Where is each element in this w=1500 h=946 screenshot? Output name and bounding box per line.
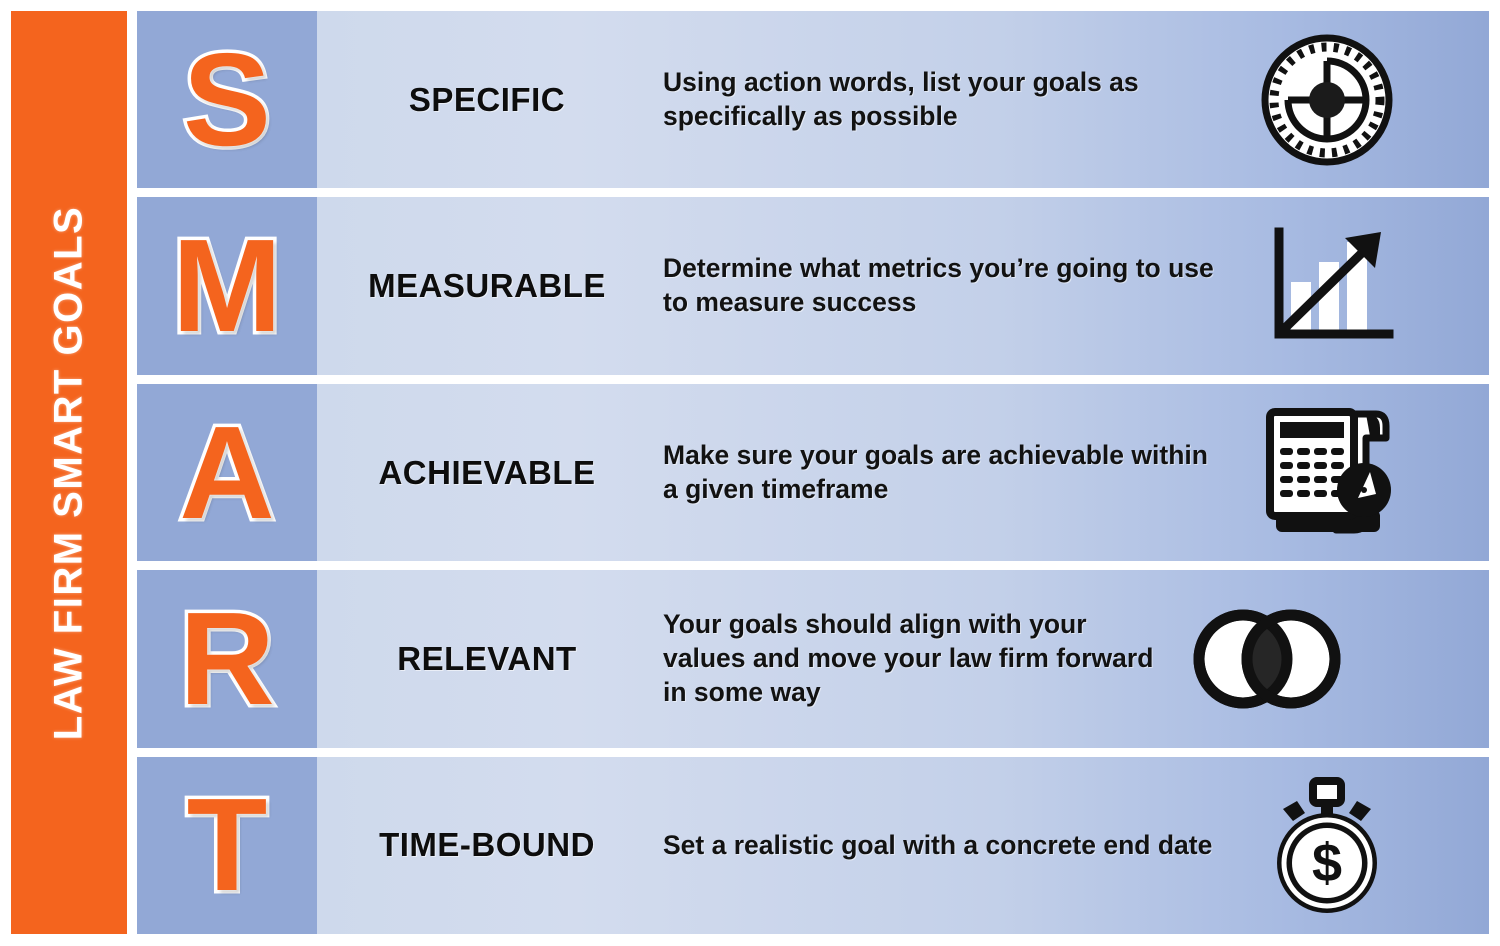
venn-diagram-icon	[1177, 607, 1357, 711]
term-label-relevant: RELEVANT	[317, 640, 657, 678]
stopwatch-dollar-icon: $	[1237, 775, 1417, 915]
smart-rows-container: S SPECIFIC Using action words, list your…	[137, 11, 1489, 934]
letter-glyph-a: A	[179, 407, 274, 539]
svg-text:$: $	[1312, 833, 1342, 893]
smart-row-achievable: A ACHIEVABLE Make sure your goals are ac…	[137, 384, 1489, 561]
growth-bar-chart-icon	[1237, 224, 1417, 348]
letter-glyph-s: S	[183, 34, 271, 166]
vertical-title-banner: LAW FIRM SMART GOALS	[11, 11, 127, 934]
description-relevant: Your goals should align with your values…	[657, 608, 1177, 709]
smart-row-time-bound: T TIME-BOUND Set a realistic goal with a…	[137, 757, 1489, 934]
content-strip-specific: SPECIFIC Using action words, list your g…	[317, 11, 1489, 188]
smart-goals-infographic: LAW FIRM SMART GOALS S SPECIFIC Using ac…	[0, 0, 1500, 946]
description-measurable: Determine what metrics you’re going to u…	[657, 252, 1237, 319]
letter-tile-m: M	[137, 197, 317, 374]
letter-glyph-r: R	[179, 593, 274, 725]
letter-glyph-t: T	[187, 779, 268, 911]
term-label-specific: SPECIFIC	[317, 81, 657, 119]
term-label-measurable: MEASURABLE	[317, 267, 657, 305]
content-strip-relevant: RELEVANT Your goals should align with yo…	[317, 570, 1489, 747]
term-label-time-bound: TIME-BOUND	[317, 826, 657, 864]
letter-glyph-m: M	[172, 220, 282, 352]
letter-tile-r: R	[137, 570, 317, 747]
letter-tile-t: T	[137, 757, 317, 934]
letter-tile-s: S	[137, 11, 317, 188]
letter-tile-a: A	[137, 384, 317, 561]
smart-row-relevant: R RELEVANT Your goals should align with …	[137, 570, 1489, 747]
description-achievable: Make sure your goals are achievable with…	[657, 439, 1237, 506]
content-strip-achievable: ACHIEVABLE Make sure your goals are achi…	[317, 384, 1489, 561]
target-icon	[1237, 34, 1417, 166]
description-time-bound: Set a realistic goal with a concrete end…	[657, 829, 1237, 863]
smart-row-measurable: M MEASURABLE Determine what metrics you’…	[137, 197, 1489, 374]
description-specific: Using action words, list your goals as s…	[657, 66, 1237, 133]
banner-title-text: LAW FIRM SMART GOALS	[47, 205, 92, 739]
term-label-achievable: ACHIEVABLE	[317, 454, 657, 492]
content-strip-time-bound: TIME-BOUND Set a realistic goal with a c…	[317, 757, 1489, 934]
content-strip-measurable: MEASURABLE Determine what metrics you’re…	[317, 197, 1489, 374]
calculator-clock-icon	[1237, 406, 1417, 540]
smart-row-specific: S SPECIFIC Using action words, list your…	[137, 11, 1489, 188]
